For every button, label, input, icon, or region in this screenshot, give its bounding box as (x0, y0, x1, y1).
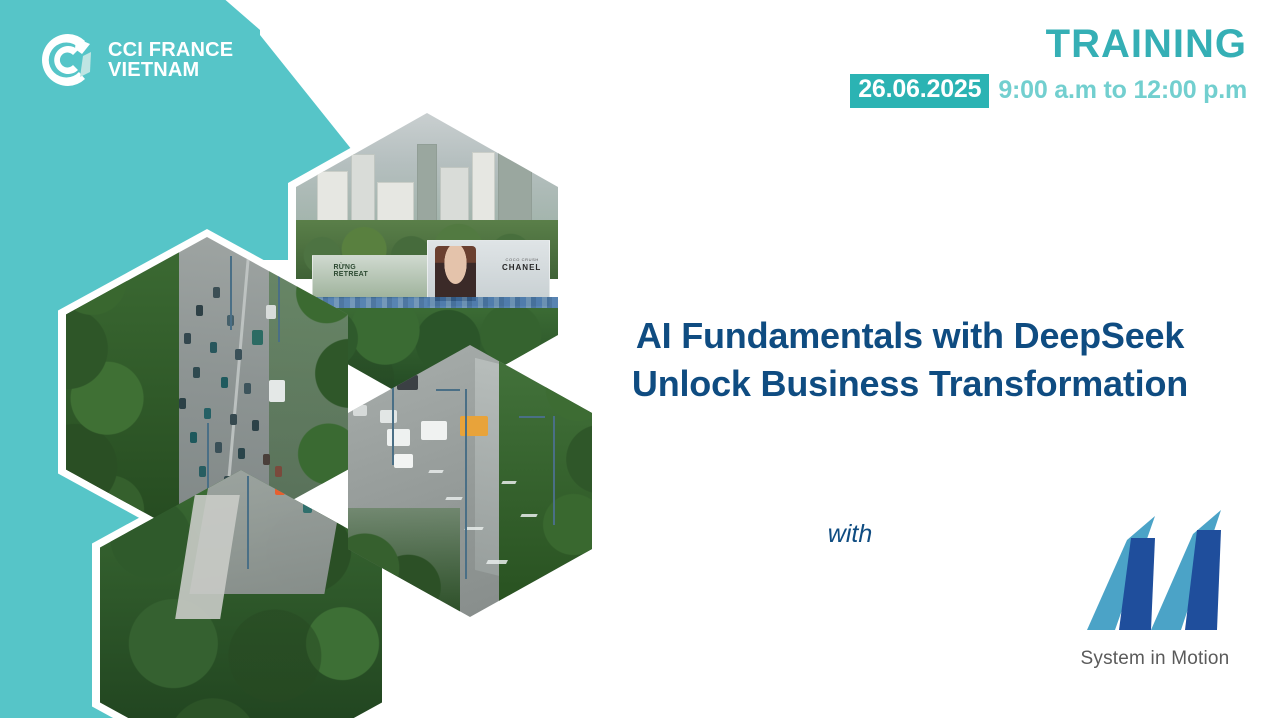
brand-name-line1: CCI FRANCE (108, 39, 233, 61)
cci-logo-mark-icon (38, 30, 96, 90)
billboard-right-brand: CHANEL (502, 263, 541, 272)
event-time-label: 9:00 a.m to 12:00 p.m (998, 76, 1247, 105)
page-title: AI Fundamentals with DeepSeek Unlock Bus… (560, 312, 1260, 407)
billboard-model-photo (435, 246, 476, 301)
car-vehicle (252, 330, 263, 345)
billboard-rung-retreat: RỪNG RETREAT (312, 255, 429, 298)
title-line-2: Unlock Business Transformation (560, 360, 1260, 408)
event-type-label: TRAINING (850, 24, 1247, 64)
truck-vehicle (387, 429, 410, 446)
street-light-pole (247, 476, 249, 569)
street-light-pole (465, 389, 467, 579)
with-label: with (760, 520, 940, 549)
car-vehicle (394, 454, 413, 468)
street-light-pole (278, 274, 280, 342)
street-light-arm (436, 389, 460, 391)
motorbike-vehicle (303, 501, 312, 513)
title-line-1: AI Fundamentals with DeepSeek (560, 312, 1260, 360)
billboard-right-sub: COCO CRUSH (506, 257, 539, 262)
car-vehicle (266, 305, 276, 319)
street-light-arm (519, 416, 545, 418)
car-vehicle (353, 405, 367, 416)
truck-vehicle (421, 421, 447, 440)
street-light-pole (230, 256, 232, 330)
event-date-badge: 26.06.2025 (850, 74, 989, 108)
event-datetime-row: 26.06.2025 9:00 a.m to 12:00 p.m (850, 74, 1247, 108)
cci-france-vietnam-logo: CCI FRANCE VIETNAM (38, 30, 233, 90)
bus-vehicle (269, 380, 285, 402)
training-announcement-poster: RỪNG RETREAT COCO CRUSH CHANEL (0, 0, 1277, 718)
partner-name-label: System in Motion (1045, 648, 1265, 670)
event-header: TRAINING 26.06.2025 9:00 a.m to 12:00 p.… (850, 24, 1247, 108)
hexagon-photo-highway-trucks (348, 345, 592, 617)
billboard-left-line2: RETREAT (333, 271, 368, 278)
street-light-pole (553, 416, 555, 525)
system-in-motion-m-logo-icon (1085, 508, 1225, 640)
brand-name-line2: VIETNAM (108, 59, 199, 81)
billboard-left-line1: RỪNG (333, 264, 368, 271)
car-vehicle (380, 410, 397, 423)
